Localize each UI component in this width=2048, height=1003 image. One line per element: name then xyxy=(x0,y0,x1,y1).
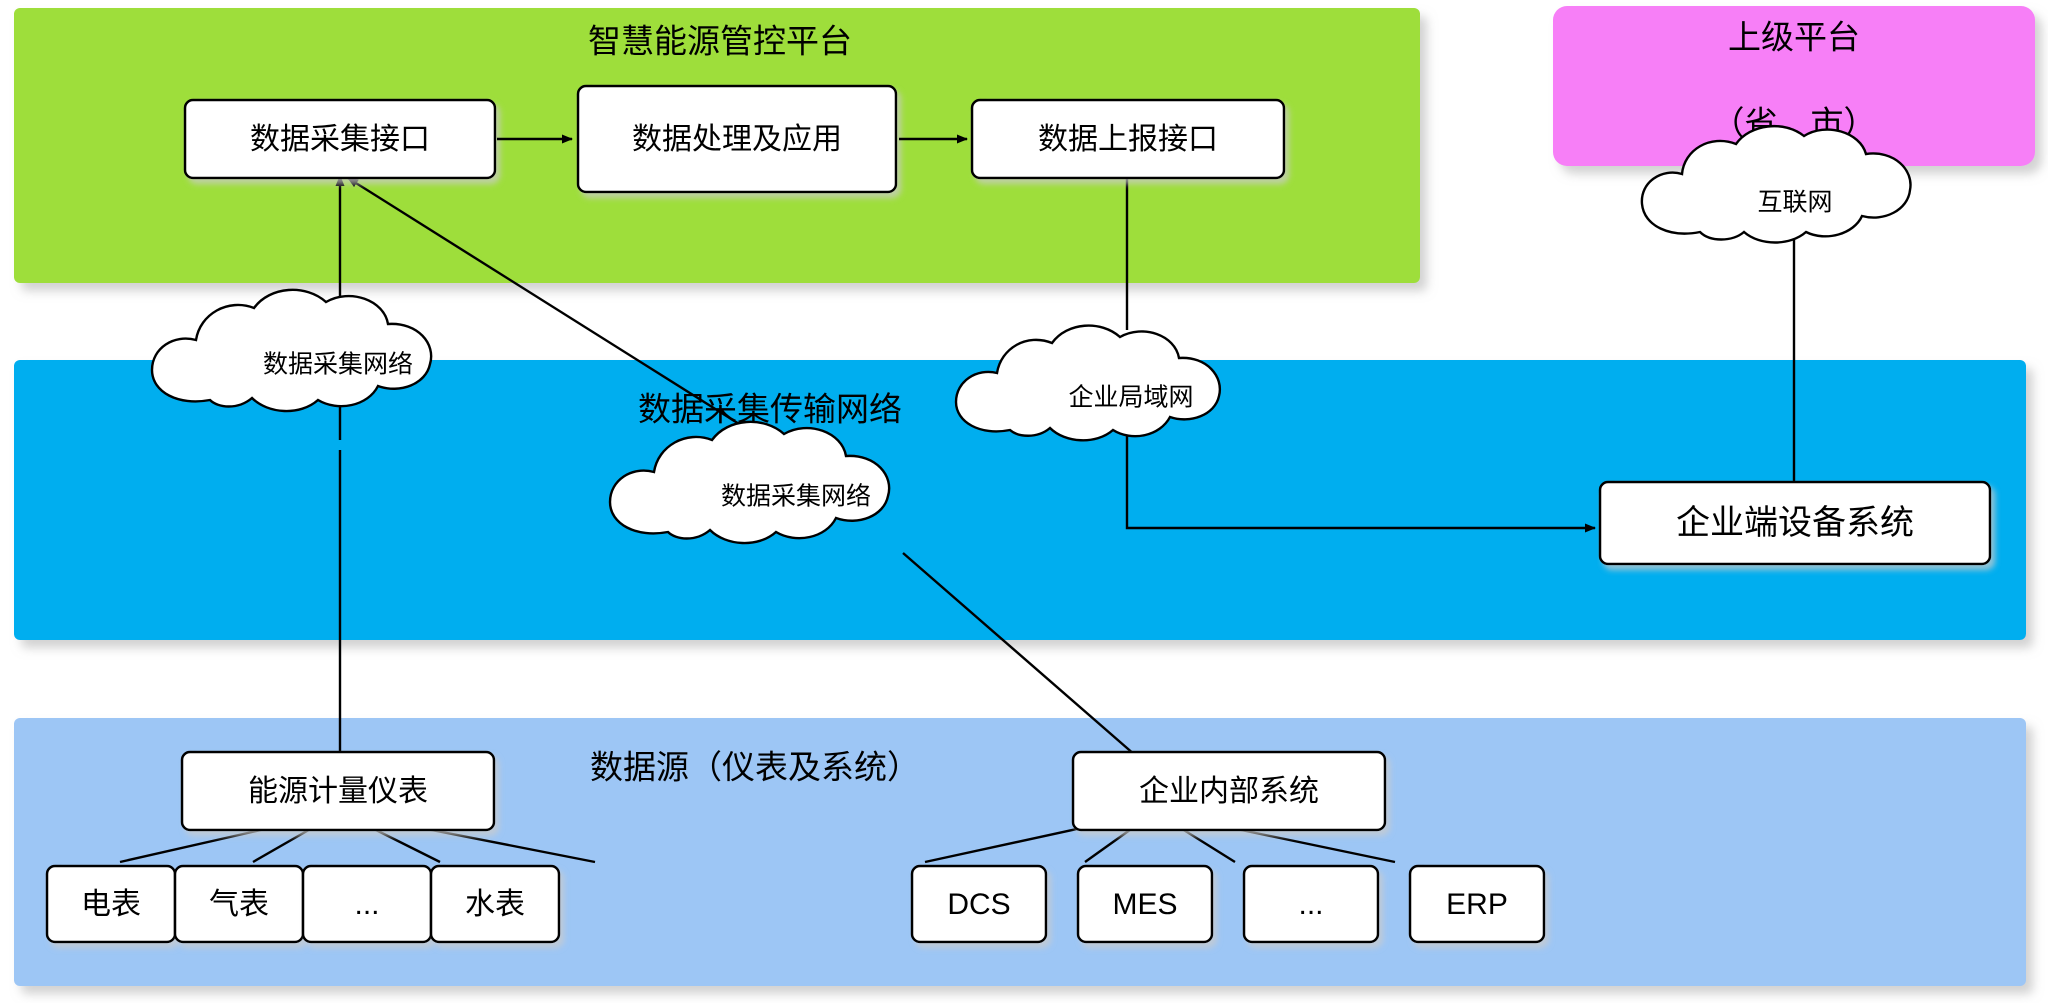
node-meter-ellipsis[interactable]: ... xyxy=(303,866,431,942)
node-mes[interactable]: MES xyxy=(1078,866,1212,942)
data-report-interface-label: 数据上报接口 xyxy=(1038,123,1218,156)
energy-meters-label: 能源计量仪表 xyxy=(248,775,428,808)
internet-cloud-label: 互联网 xyxy=(1757,189,1832,217)
node-electricity-meter[interactable]: 电表 xyxy=(47,866,175,942)
electricity-meter-label: 电表 xyxy=(81,888,141,921)
node-enterprise-internal-systems[interactable]: 企业内部系统 xyxy=(1073,752,1385,830)
mes-label: MES xyxy=(1112,888,1177,921)
dcs-label: DCS xyxy=(947,888,1010,921)
enterprise-internal-systems-label: 企业内部系统 xyxy=(1139,775,1319,808)
node-gas-meter[interactable]: 气表 xyxy=(175,866,303,942)
node-water-meter[interactable]: 水表 xyxy=(431,866,559,942)
collect-network-1-label: 数据采集网络 xyxy=(263,351,413,379)
node-data-process-app[interactable]: 数据处理及应用 xyxy=(578,86,896,192)
node-energy-meters[interactable]: 能源计量仪表 xyxy=(182,752,494,830)
system-ellipsis-label: ... xyxy=(1298,888,1323,921)
node-system-ellipsis[interactable]: ... xyxy=(1244,866,1378,942)
network-band-label: 数据采集传输网络 xyxy=(638,391,902,428)
erp-label: ERP xyxy=(1446,888,1508,921)
node-dcs[interactable]: DCS xyxy=(912,866,1046,942)
node-data-report-interface[interactable]: 数据上报接口 xyxy=(972,100,1284,178)
architecture-diagram: 智慧能源管控平台 数据采集传输网络 数据源（仪表及系统） 上级平台 （省、市） xyxy=(0,0,2048,1003)
node-enterprise-device-system[interactable]: 企业端设备系统 xyxy=(1600,482,1990,564)
gas-meter-label: 气表 xyxy=(209,888,269,921)
node-erp[interactable]: ERP xyxy=(1410,866,1544,942)
datasource-band-label: 数据源（仪表及系统） xyxy=(590,749,920,786)
meter-ellipsis-label: ... xyxy=(354,888,379,921)
node-data-collect-interface[interactable]: 数据采集接口 xyxy=(185,100,495,178)
diagram-canvas: 智慧能源管控平台 数据采集传输网络 数据源（仪表及系统） 上级平台 （省、市） xyxy=(0,0,2048,1003)
enterprise-device-system-label: 企业端设备系统 xyxy=(1676,504,1914,542)
water-meter-label: 水表 xyxy=(465,888,525,921)
data-process-app-label: 数据处理及应用 xyxy=(632,123,842,156)
upper-platform-label-line1: 上级平台 xyxy=(1728,19,1860,56)
collect-network-2-label: 数据采集网络 xyxy=(721,483,871,511)
platform-band-label: 智慧能源管控平台 xyxy=(588,23,852,60)
enterprise-lan-label: 企业局域网 xyxy=(1068,384,1193,412)
data-collect-interface-label: 数据采集接口 xyxy=(250,123,430,156)
